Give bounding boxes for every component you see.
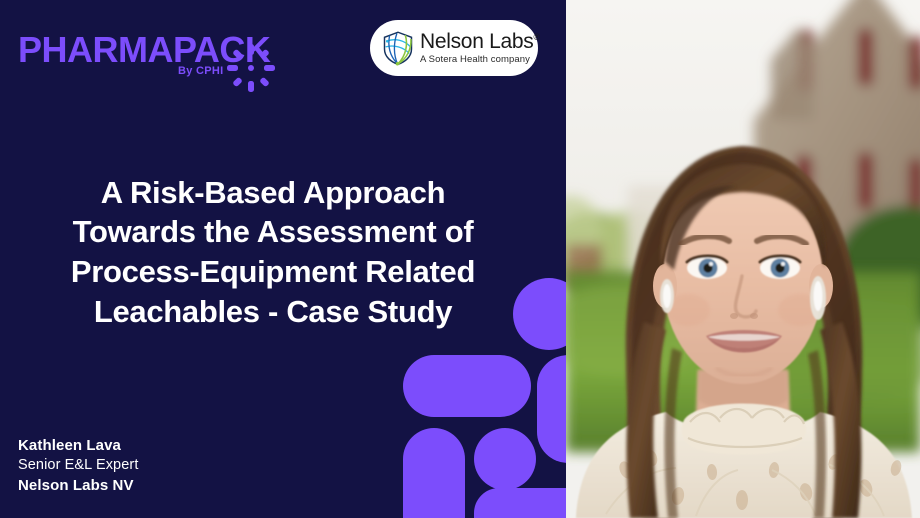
nelson-labs-subtitle: A Sotera Health company: [420, 55, 540, 65]
decorative-pill-bottom: [474, 488, 566, 518]
slide-title-line-3: Process-Equipment Related: [20, 252, 526, 292]
nelson-labs-globe-shield-icon: [380, 30, 416, 66]
decorative-pill-horizontal: [403, 355, 531, 417]
presentation-slide: PHARMAPACK By CPHI: [0, 0, 920, 518]
slide-left-panel: PHARMAPACK By CPHI: [0, 0, 566, 518]
decorative-pill-vertical-left: [403, 428, 465, 518]
decorative-circle-middle: [474, 428, 536, 490]
decorative-pill-vertical-right: [537, 355, 566, 463]
nelson-labs-logo: Nelson Labs® A Sotera Health company: [370, 20, 538, 76]
nelson-labs-name-text: Nelson Labs: [420, 30, 533, 53]
speaker-info: Kathleen Lava Senior E&L Expert Nelson L…: [18, 436, 138, 496]
speaker-name: Kathleen Lava: [18, 436, 138, 456]
nelson-labs-text-block: Nelson Labs® A Sotera Health company: [420, 31, 540, 65]
starburst-dots-icon: [227, 44, 275, 92]
speaker-organization: Nelson Labs NV: [18, 476, 138, 496]
slide-title-line-2: Towards the Assessment of: [20, 212, 526, 252]
speaker-role: Senior E&L Expert: [18, 456, 138, 476]
speaker-portrait: [566, 0, 920, 518]
slide-title-line-4: Leachables - Case Study: [20, 292, 526, 332]
registered-trademark-icon: ®: [533, 32, 539, 42]
pharmapack-logo: PHARMAPACK By CPHI: [18, 22, 258, 80]
slide-title: A Risk-Based ApproachTowards the Assessm…: [20, 173, 526, 332]
pharmapack-tagline: By CPHI: [178, 65, 224, 77]
nelson-labs-name: Nelson Labs®: [420, 31, 540, 52]
slide-title-line-1: A Risk-Based Approach: [20, 173, 526, 213]
